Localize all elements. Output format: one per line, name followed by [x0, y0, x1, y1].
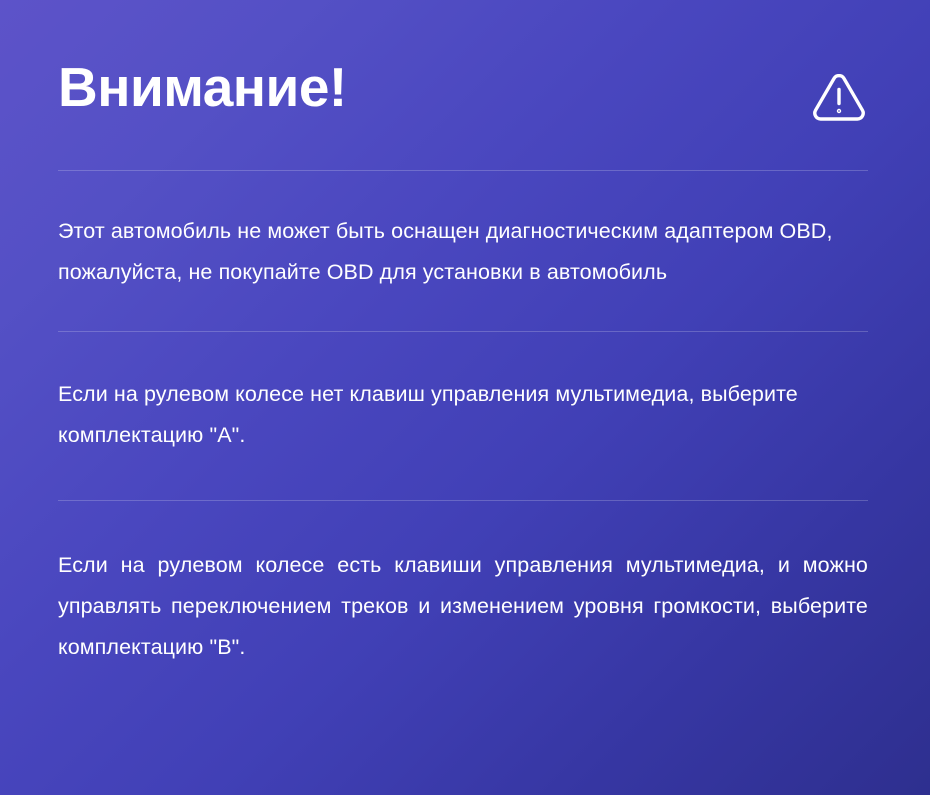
page-title: Внимание!: [58, 54, 347, 120]
warning-triangle-icon: [810, 68, 868, 126]
content-container: Внимание! Этот автомобиль не может быть …: [58, 0, 868, 795]
section-text: Если на рулевом колесе есть клавиши упра…: [58, 545, 868, 668]
section-trim-a: Если на рулевом колесе нет клавиш управл…: [58, 332, 868, 500]
section-text: Этот автомобиль не может быть оснащен ди…: [58, 211, 868, 293]
warning-notice-screen: Внимание! Этот автомобиль не может быть …: [0, 0, 930, 795]
section-text: Если на рулевом колесе нет клавиш управл…: [58, 374, 868, 456]
section-obd-warning: Этот автомобиль не может быть оснащен ди…: [58, 171, 868, 331]
header: Внимание!: [58, 0, 868, 170]
section-trim-b: Если на рулевом колесе есть клавиши упра…: [58, 501, 868, 712]
